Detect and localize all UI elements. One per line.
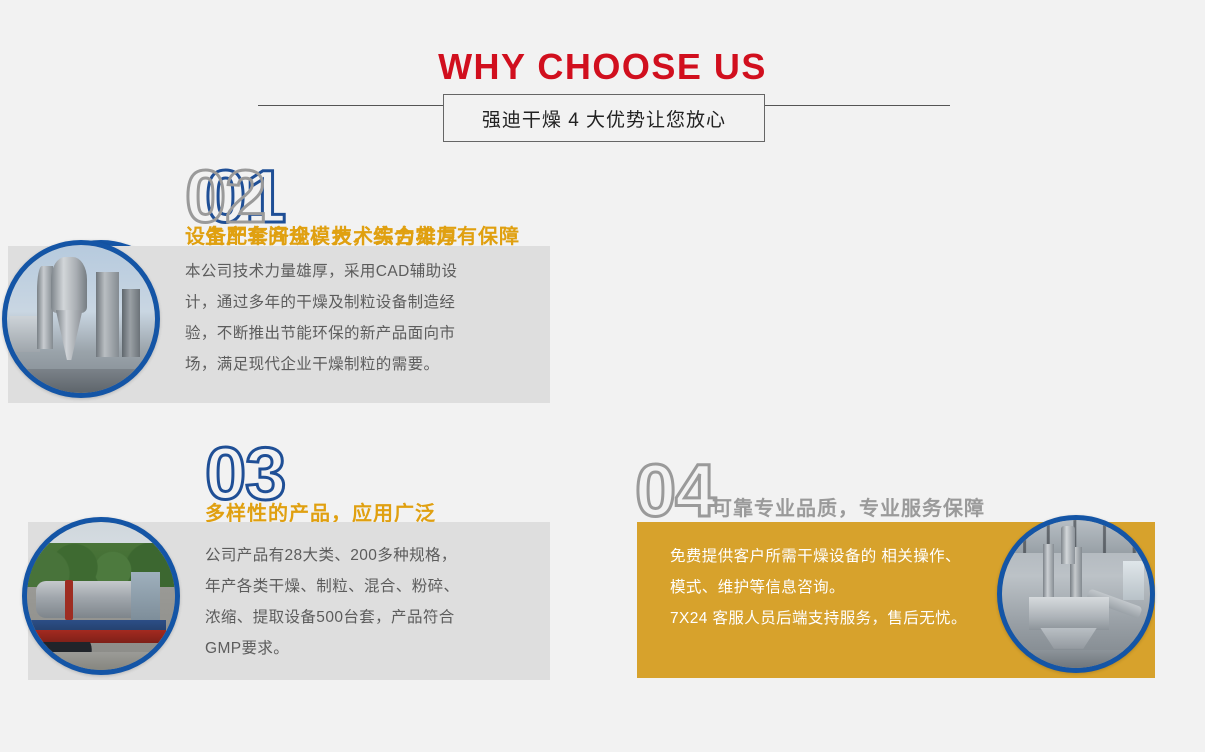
card-04-number: 04 bbox=[635, 462, 715, 520]
card-02-number: 02 bbox=[185, 168, 265, 226]
header-rule-right bbox=[764, 105, 950, 106]
card-02-title: 设备配套齐全，技术实力雄厚 bbox=[185, 220, 458, 249]
card-03-photo bbox=[22, 517, 180, 675]
card-04-line-3: 7X24 客服人员后端支持服务，售后无忧。 bbox=[670, 603, 967, 634]
card-04-title: 可靠专业品质，专业服务保障 bbox=[712, 492, 985, 521]
page-title: WHY CHOOSE US bbox=[0, 46, 1205, 88]
card-02-line-3: 验，不断推出节能环保的新产品面向市 bbox=[185, 318, 457, 349]
cyclone-dryer-photo bbox=[7, 245, 155, 393]
rotary-dryer-on-truck-photo bbox=[27, 522, 175, 670]
card-03-line-1: 公司产品有28大类、200多种规格， bbox=[205, 540, 459, 571]
card-02-photo bbox=[2, 240, 160, 398]
feature-card-03: 03 多样性的产品，应用广泛 公司产品有28大类、200多种规格， 年产各类干燥… bbox=[0, 445, 560, 690]
card-03-line-3: 浓缩、提取设备500台套，产品符合 bbox=[205, 602, 459, 633]
why-choose-us-page: WHY CHOOSE US 强迪干燥 4 大优势让您放心 01 生产车间规模大，… bbox=[0, 0, 1205, 752]
card-04-line-1: 免费提供客户所需干燥设备的 相关操作、 bbox=[670, 541, 967, 572]
card-02-body: 本公司技术力量雄厚，采用CAD辅助设 计，通过多年的干燥及制粒设备制造经 验，不… bbox=[185, 256, 457, 380]
card-04-line-2: 模式、维护等信息咨询。 bbox=[670, 572, 967, 603]
feature-card-04: 04 可靠专业品质，专业服务保障 免费提供客户所需干燥设备的 相关操作、 模式、… bbox=[630, 462, 1205, 692]
card-02-line-1: 本公司技术力量雄厚，采用CAD辅助设 bbox=[185, 256, 457, 287]
fluid-bed-dryer-workshop-photo bbox=[1002, 520, 1150, 668]
header-subtitle-box: 强迪干燥 4 大优势让您放心 bbox=[443, 94, 765, 142]
header-rule-left bbox=[258, 105, 444, 106]
card-04-photo bbox=[997, 515, 1155, 673]
header-subtitle: 强迪干燥 4 大优势让您放心 bbox=[482, 105, 726, 132]
card-03-body: 公司产品有28大类、200多种规格， 年产各类干燥、制粒、混合、粉碎、 浓缩、提… bbox=[205, 540, 459, 664]
card-03-number: 03 bbox=[205, 445, 285, 503]
card-04-body: 免费提供客户所需干燥设备的 相关操作、 模式、维护等信息咨询。 7X24 客服人… bbox=[670, 541, 967, 634]
section-header: WHY CHOOSE US 强迪干燥 4 大优势让您放心 bbox=[0, 0, 1205, 150]
card-02-line-2: 计，通过多年的干燥及制粒设备制造经 bbox=[185, 287, 457, 318]
card-02-line-4: 场，满足现代企业干燥制粒的需要。 bbox=[185, 349, 457, 380]
feature-card-02: 02 设备配套齐全，技术实力雄厚 本公司技术力量雄厚，采用CAD辅助设 计，通过… bbox=[0, 168, 575, 408]
card-03-line-2: 年产各类干燥、制粒、混合、粉碎、 bbox=[205, 571, 459, 602]
card-03-line-4: GMP要求。 bbox=[205, 633, 459, 664]
